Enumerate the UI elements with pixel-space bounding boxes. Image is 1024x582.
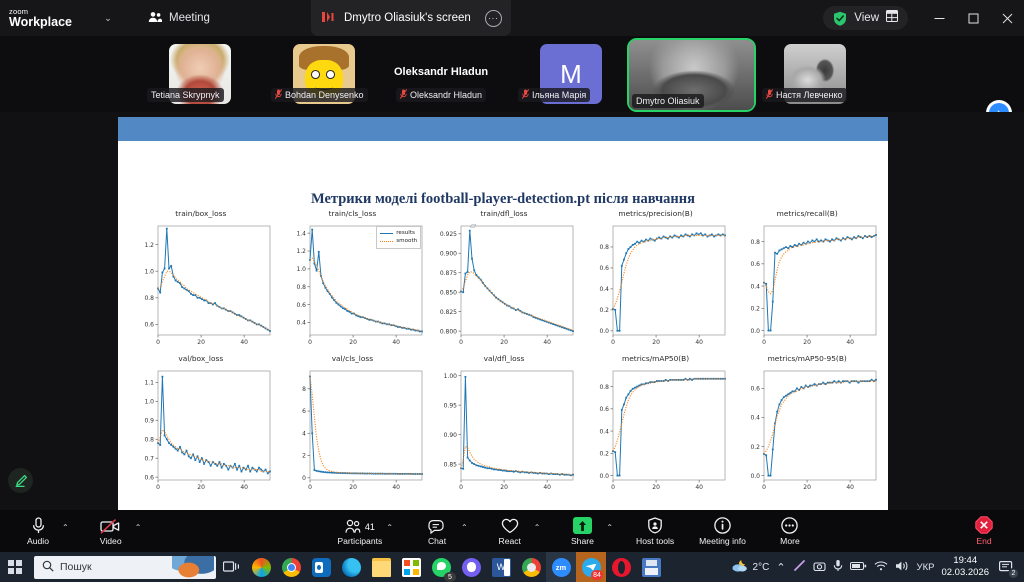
chart-plot-area: 0.00.20.40.60.802040 — [583, 366, 729, 497]
taskbar-app-outlook[interactable] — [306, 552, 336, 582]
participant-name: Bohdan Denysenko — [285, 90, 364, 100]
shared-screen-tab-label: Dmytro Oliasiuk's screen — [344, 12, 471, 24]
svg-text:0.8: 0.8 — [296, 284, 306, 291]
participant-nameplate: Настя Левченко — [762, 88, 847, 102]
chart-title: train/dfl_loss — [431, 209, 577, 221]
svg-text:0: 0 — [611, 339, 615, 346]
language-indicator[interactable]: УКР — [917, 562, 935, 573]
pen-tray-icon[interactable] — [793, 559, 806, 575]
minimize-button[interactable] — [922, 0, 956, 36]
svg-text:0.95: 0.95 — [444, 402, 458, 409]
svg-text:0.2: 0.2 — [751, 306, 761, 313]
chart-panel-metrics-recall-b-: metrics/recall(B)0.00.20.40.60.802040 — [734, 209, 880, 352]
svg-text:0.6: 0.6 — [599, 265, 609, 272]
zoom-meeting-window: zoom Workplace ⌄ Meeting Dmytro Oliasiuk… — [0, 0, 1024, 582]
chart-panel-train-cls-loss: train/cls_loss0.40.60.81.01.21.402040res… — [280, 209, 426, 352]
series-smooth — [461, 446, 573, 474]
weather-temperature: 2°C — [753, 562, 770, 573]
chart-plot-area: 0.60.70.80.91.01.102040 — [128, 366, 274, 497]
chart-title: metrics/recall(B) — [734, 209, 880, 221]
participant-name-large: Oleksandr Hladun — [394, 66, 488, 78]
share-button-label: Share — [571, 536, 594, 546]
taskbar-app-chrome-2[interactable] — [516, 552, 546, 582]
zoom-logo-big: Workplace — [9, 16, 72, 29]
slide-title: Метрики моделі football-player-detection… — [118, 191, 888, 208]
chat-bubble-icon — [428, 516, 446, 534]
svg-text:0: 0 — [762, 484, 766, 491]
chart-title: metrics/mAP50(B) — [583, 354, 729, 366]
taskbar-app-zoom[interactable]: zm — [546, 552, 576, 582]
end-meeting-button-label: End — [976, 536, 991, 546]
svg-text:0.0: 0.0 — [599, 328, 609, 335]
series-results — [158, 377, 270, 474]
chart-panel-metrics-map50-95-b-: metrics/mAP50-95(B)0.00.20.40.602040 — [734, 354, 880, 497]
chart-plot-area: 0246802040 — [280, 366, 426, 497]
taskbar-app-microsoft-store[interactable] — [396, 552, 426, 582]
svg-text:0.800: 0.800 — [440, 328, 457, 335]
svg-text:0.4: 0.4 — [751, 415, 761, 422]
participant-tile-2[interactable]: Oleksandr Hladun Oleksandr Hladun — [416, 44, 478, 104]
share-button[interactable]: Share — [562, 516, 602, 546]
svg-text:0: 0 — [459, 484, 463, 491]
svg-text:0: 0 — [308, 339, 312, 346]
svg-text:20: 20 — [197, 484, 205, 491]
tray-expand-chevron-icon[interactable]: ⌃ — [776, 561, 785, 574]
title-bar: zoom Workplace ⌄ Meeting Dmytro Oliasiuk… — [0, 0, 1024, 36]
svg-text:0.6: 0.6 — [599, 406, 609, 413]
svg-text:20: 20 — [804, 339, 812, 346]
microphone-muted-icon — [522, 89, 529, 101]
svg-text:0.90: 0.90 — [444, 432, 458, 439]
chart-legend: resultssmooth — [376, 226, 421, 249]
task-view-button[interactable] — [216, 552, 246, 582]
svg-text:0.925: 0.925 — [440, 231, 457, 238]
taskbar-app-disk[interactable] — [636, 552, 666, 582]
screen-share-icon — [322, 11, 336, 26]
taskbar-clock[interactable]: 19:44 02.03.2026 — [941, 555, 989, 579]
microphone-tray-icon[interactable] — [833, 559, 843, 575]
participant-name: Tetiana Skrypnyk — [151, 90, 220, 100]
more-dots-icon — [781, 516, 798, 534]
participant-nameplate: Dmytro Oliasiuk — [632, 94, 704, 108]
encryption-shield-icon — [833, 11, 847, 26]
share-screen-icon — [573, 516, 592, 534]
more-button-label: More — [780, 536, 800, 546]
svg-text:0.85: 0.85 — [444, 461, 458, 468]
svg-text:40: 40 — [240, 339, 248, 346]
shared-screen-more-icon[interactable]: ··· — [485, 10, 502, 27]
svg-text:0.7: 0.7 — [144, 455, 154, 462]
series-smooth — [613, 379, 725, 451]
notification-count: 2 — [1008, 568, 1019, 579]
telegram-badge: 84 — [591, 570, 603, 580]
legend-swatch-smooth — [380, 241, 393, 242]
svg-text:0.8: 0.8 — [144, 436, 154, 443]
svg-text:1.2: 1.2 — [144, 242, 154, 249]
weather-cloud-moon-icon — [731, 559, 749, 576]
chart-plot-area: 0.8000.8250.8500.8750.9000.92502040 — [431, 221, 577, 352]
chart-plot-area: 0.60.81.01.202040 — [128, 221, 274, 352]
end-meeting-button[interactable]: End — [964, 516, 1004, 546]
microphone-muted-icon — [400, 89, 407, 101]
chart-title: metrics/mAP50-95(B) — [734, 354, 880, 366]
svg-text:20: 20 — [500, 484, 508, 491]
microphone-icon — [31, 516, 46, 534]
slide-banner — [118, 117, 888, 141]
weather-widget[interactable]: 2°C — [731, 559, 770, 576]
svg-text:20: 20 — [652, 339, 660, 346]
series-results — [613, 233, 725, 330]
participant-tile-5[interactable]: Настя Левченко — [784, 44, 846, 104]
svg-text:40: 40 — [544, 484, 552, 491]
series-smooth — [310, 258, 422, 331]
notification-center-button[interactable]: 2 — [996, 557, 1018, 577]
svg-text:0: 0 — [762, 339, 766, 346]
info-icon — [714, 516, 731, 534]
svg-text:0: 0 — [156, 484, 160, 491]
taskbar-search-placeholder: Пошук — [60, 561, 92, 573]
camera-tray-icon[interactable] — [813, 560, 826, 575]
pen-icon — [14, 474, 28, 488]
svg-text:20: 20 — [197, 339, 205, 346]
meeting-info-button-label: Meeting info — [699, 536, 746, 546]
participant-name: Ільяна Марія — [532, 90, 586, 100]
svg-text:20: 20 — [500, 339, 508, 346]
chart-title: val/cls_loss — [280, 354, 426, 366]
series-results — [461, 377, 573, 475]
react-button[interactable]: React — [490, 516, 530, 546]
taskbar-app-word[interactable]: W — [486, 552, 516, 582]
view-layout-grid-icon — [886, 9, 898, 27]
participants-button[interactable]: 41 Participants — [337, 516, 382, 546]
svg-text:1.0: 1.0 — [296, 266, 306, 273]
battery-icon[interactable] — [850, 561, 867, 574]
svg-text:0.9: 0.9 — [144, 417, 154, 424]
search-highlight-image — [172, 556, 214, 579]
taskbar-app-opera[interactable] — [606, 552, 636, 582]
microphone-muted-icon — [766, 89, 773, 101]
legend-label: results — [396, 229, 415, 237]
chart-plot-area: 0.850.900.951.0002040 — [431, 366, 577, 497]
chart-plot-area: 0.00.20.40.602040 — [734, 366, 880, 497]
chart-panel-train-dfl-loss: train/dfl_loss0.8000.8250.8500.8750.9000… — [431, 209, 577, 352]
participants-button-label: Participants — [337, 536, 382, 546]
series-smooth — [310, 377, 422, 474]
svg-text:0.8: 0.8 — [751, 239, 761, 246]
participant-nameplate: Bohdan Denysenko — [271, 88, 368, 102]
participant-name: Dmytro Oliasiuk — [636, 96, 700, 106]
windows-logo-icon — [8, 560, 22, 574]
chart-title: val/box_loss — [128, 354, 274, 366]
svg-text:0.825: 0.825 — [440, 309, 457, 316]
svg-text:0.8: 0.8 — [599, 384, 609, 391]
series-smooth — [158, 430, 270, 472]
legend-swatch-results — [380, 233, 393, 234]
wifi-icon[interactable] — [874, 560, 888, 574]
annotate-pen-button[interactable] — [8, 468, 33, 493]
series-smooth — [764, 381, 876, 454]
svg-text:0.0: 0.0 — [751, 328, 761, 335]
series-results — [764, 380, 876, 476]
zoom-logo-small: zoom — [9, 8, 72, 16]
chart-title: metrics/precision(B) — [583, 209, 729, 221]
close-button[interactable] — [990, 0, 1024, 36]
taskbar-app-telegram[interactable]: 84 — [576, 552, 606, 582]
participant-tile-1[interactable]: Bohdan Denysenko — [293, 44, 355, 104]
svg-text:1.4: 1.4 — [296, 230, 306, 237]
svg-text:1.1: 1.1 — [144, 380, 154, 387]
svg-text:0.8: 0.8 — [144, 295, 154, 302]
participant-name: Oleksandr Hladun — [410, 90, 482, 100]
series-results — [310, 377, 422, 474]
svg-text:0: 0 — [611, 484, 615, 491]
participants-options-chevron-icon[interactable]: ⌃ — [386, 523, 393, 532]
participant-tile-4-active-speaker[interactable]: Dmytro Oliasiuk — [629, 40, 754, 110]
view-button[interactable]: View — [823, 6, 908, 30]
participant-tile-0[interactable]: Tetiana Skrypnyk — [169, 44, 231, 104]
maximize-button[interactable] — [956, 0, 990, 36]
audio-options-chevron-icon[interactable]: ⌃ — [62, 523, 69, 532]
svg-text:0.6: 0.6 — [751, 386, 761, 393]
meeting-toolbar: Audio ⌃ Video ⌃ 41 Participants ⌃ Chat — [0, 510, 1024, 552]
clock-date: 02.03.2026 — [941, 567, 989, 579]
svg-text:40: 40 — [392, 484, 400, 491]
svg-text:40: 40 — [240, 484, 248, 491]
audio-button-label: Audio — [27, 536, 49, 546]
svg-text:0.6: 0.6 — [144, 322, 154, 329]
taskbar-app-chrome[interactable] — [276, 552, 306, 582]
svg-text:1.0: 1.0 — [144, 268, 154, 275]
view-button-label: View — [854, 12, 879, 24]
legend-item-smooth: smooth — [380, 237, 417, 245]
participant-name: Настя Левченко — [776, 90, 843, 100]
video-camera-off-icon — [100, 516, 121, 534]
react-button-label: React — [498, 536, 520, 546]
svg-text:0.0: 0.0 — [751, 473, 761, 480]
participant-tile-3[interactable]: M Ільяна Марія — [540, 44, 602, 104]
svg-text:1.2: 1.2 — [296, 248, 306, 255]
react-options-chevron-icon[interactable]: ⌃ — [534, 523, 541, 532]
svg-text:6: 6 — [302, 408, 306, 415]
chat-button[interactable]: Chat — [417, 516, 457, 546]
chart-plot-area: 0.40.60.81.01.21.402040resultssmooth — [280, 221, 426, 352]
audio-button[interactable]: Audio — [18, 516, 58, 546]
svg-text:40: 40 — [544, 339, 552, 346]
svg-text:0.2: 0.2 — [751, 444, 761, 451]
svg-text:0.8: 0.8 — [599, 244, 609, 251]
video-button[interactable]: Video — [91, 516, 131, 546]
taskbar-app-whatsapp[interactable]: 5 — [426, 552, 456, 582]
chart-panel-val-dfl-loss: val/dfl_loss0.850.900.951.0002040 — [431, 354, 577, 497]
svg-text:2: 2 — [302, 453, 306, 460]
video-button-label: Video — [100, 536, 122, 546]
taskbar-app-copilot[interactable] — [246, 552, 276, 582]
svg-text:20: 20 — [349, 339, 357, 346]
chart-panel-train-box-loss: train/box_loss0.60.81.01.202040 — [128, 209, 274, 352]
svg-text:20: 20 — [652, 484, 660, 491]
zoom-logo: zoom Workplace — [9, 8, 72, 29]
svg-text:0: 0 — [459, 339, 463, 346]
shared-screen-tab[interactable]: Dmytro Oliasiuk's screen ··· — [311, 0, 511, 36]
chart-panel-val-box-loss: val/box_loss0.60.70.80.91.01.102040 — [128, 354, 274, 497]
svg-text:0: 0 — [156, 339, 160, 346]
svg-text:4: 4 — [302, 430, 306, 437]
shared-slide: Метрики моделі football-player-detection… — [118, 117, 888, 510]
svg-text:0.6: 0.6 — [296, 302, 306, 309]
svg-text:40: 40 — [695, 484, 703, 491]
svg-text:20: 20 — [804, 484, 812, 491]
series-results — [461, 231, 573, 331]
tab-meeting[interactable]: Meeting — [148, 11, 210, 26]
whatsapp-badge: 5 — [444, 572, 456, 582]
svg-text:0.4: 0.4 — [599, 286, 609, 293]
workspace-chevron-down-icon[interactable]: ⌄ — [100, 13, 116, 24]
host-tools-shield-icon — [647, 516, 663, 534]
window-controls: View — [823, 0, 1024, 36]
more-button[interactable]: More — [770, 516, 810, 546]
taskbar-app-edge[interactable] — [336, 552, 366, 582]
chart-title: val/dfl_loss — [431, 354, 577, 366]
svg-text:20: 20 — [349, 484, 357, 491]
chart-title: train/cls_loss — [280, 209, 426, 221]
tab-meeting-label: Meeting — [169, 12, 210, 24]
chart-plot-area: 0.00.20.40.60.802040 — [734, 221, 880, 352]
taskbar-search-input[interactable]: Пошук — [34, 556, 216, 579]
end-call-icon — [975, 516, 993, 534]
people-icon — [148, 11, 162, 26]
svg-text:0.6: 0.6 — [751, 261, 761, 268]
svg-text:1.00: 1.00 — [444, 373, 458, 380]
chart-plot-area: 0.00.20.40.60.802040 — [583, 221, 729, 352]
participant-nameplate: Ільяна Марія — [518, 88, 590, 102]
clock-time: 19:44 — [941, 555, 989, 567]
taskbar-app-file-explorer[interactable] — [366, 552, 396, 582]
chart-panel-val-cls-loss: val/cls_loss0246802040 — [280, 354, 426, 497]
svg-text:0.875: 0.875 — [440, 270, 457, 277]
svg-text:0.4: 0.4 — [599, 428, 609, 435]
chart-panel-metrics-map50-b-: metrics/mAP50(B)0.00.20.40.60.802040 — [583, 354, 729, 497]
svg-text:40: 40 — [847, 339, 855, 346]
heart-icon — [501, 516, 519, 534]
participants-count: 41 — [365, 522, 375, 532]
svg-text:0: 0 — [302, 475, 306, 482]
svg-text:0.900: 0.900 — [440, 250, 457, 257]
participant-nameplate: Tetiana Skrypnyk — [147, 88, 224, 102]
chart-panel-metrics-precision-b-: metrics/precision(B)0.00.20.40.60.802040 — [583, 209, 729, 352]
host-tools-button[interactable]: Host tools — [635, 516, 675, 546]
svg-text:0.0: 0.0 — [599, 473, 609, 480]
svg-text:0.4: 0.4 — [296, 320, 306, 327]
participant-nameplate: Oleksandr Hladun — [396, 88, 486, 102]
svg-text:0.4: 0.4 — [751, 283, 761, 290]
series-smooth — [461, 272, 573, 330]
microphone-muted-icon — [275, 89, 282, 101]
legend-item-results: results — [380, 229, 417, 237]
participant-strip: Tetiana Skrypnyk Bohdan Denysenko Oleksa… — [0, 36, 1024, 112]
share-options-chevron-icon[interactable]: ⌃ — [606, 523, 613, 532]
series-results — [613, 379, 725, 476]
svg-text:0.850: 0.850 — [440, 289, 457, 296]
video-options-chevron-icon[interactable]: ⌃ — [135, 523, 142, 532]
search-icon — [42, 560, 54, 575]
windows-taskbar: Пошук 5 W zm 84 — [0, 552, 1024, 582]
svg-text:0.2: 0.2 — [599, 307, 609, 314]
series-smooth — [764, 236, 876, 294]
metrics-chart-grid: train/box_loss0.60.81.01.202040train/cls… — [128, 209, 880, 497]
svg-text:40: 40 — [847, 484, 855, 491]
shared-content-area: Метрики моделі football-player-detection… — [0, 112, 1024, 510]
svg-text:8: 8 — [302, 386, 306, 393]
host-tools-button-label: Host tools — [636, 536, 674, 546]
chat-button-label: Chat — [428, 536, 446, 546]
participants-icon: 41 — [345, 516, 375, 534]
chart-title: train/box_loss — [128, 209, 274, 221]
svg-text:0.6: 0.6 — [144, 474, 154, 481]
svg-text:0.2: 0.2 — [599, 451, 609, 458]
svg-text:0: 0 — [308, 484, 312, 491]
chat-options-chevron-icon[interactable]: ⌃ — [461, 523, 468, 532]
meeting-info-button[interactable]: Meeting info — [699, 516, 746, 546]
svg-text:40: 40 — [695, 339, 703, 346]
taskbar-app-viber[interactable] — [456, 552, 486, 582]
legend-label: smooth — [396, 237, 417, 245]
start-button[interactable] — [0, 552, 30, 582]
svg-text:40: 40 — [392, 339, 400, 346]
svg-text:1.0: 1.0 — [144, 399, 154, 406]
system-tray: 2°C ⌃ УКР 19:44 02.0 — [731, 555, 1024, 579]
volume-icon[interactable] — [895, 560, 910, 575]
